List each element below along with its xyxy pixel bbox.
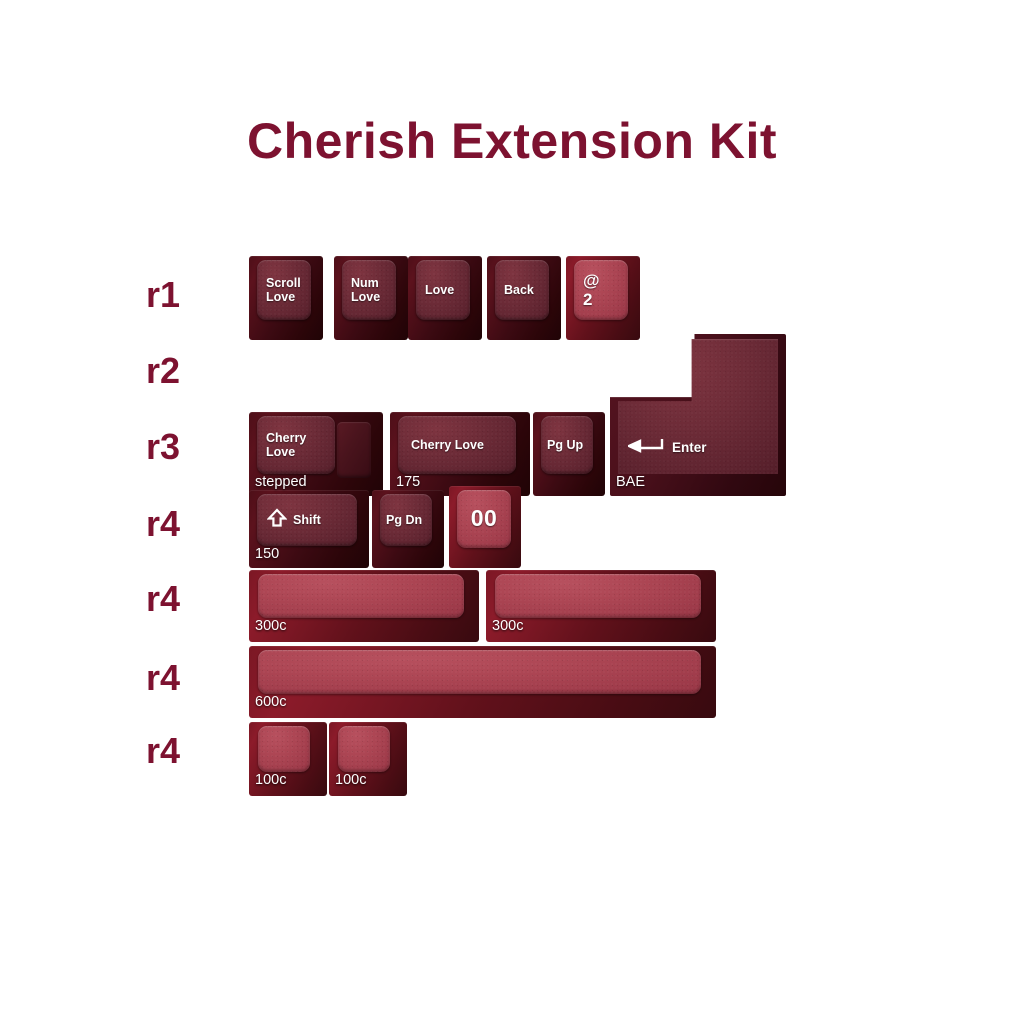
- keycap-legend: Scroll Love: [257, 276, 301, 304]
- keycap-legend-group: Enter: [628, 438, 707, 457]
- keycap-100c-left[interactable]: 100c: [249, 722, 327, 796]
- keycap-scroll-love[interactable]: Scroll Love: [249, 256, 323, 340]
- keycap-top-surface: Pg Dn: [380, 494, 432, 546]
- keycap-spacebar-600c[interactable]: 600c: [249, 646, 716, 718]
- keycap-top-surface: Back: [495, 260, 549, 320]
- row-label-r2: r2: [146, 353, 180, 389]
- keycap-legend: Back: [495, 283, 534, 297]
- keycap-num-love[interactable]: Num Love: [334, 256, 408, 340]
- keycap-top-surface: Pg Up: [541, 416, 593, 474]
- keycap-top-surface: [258, 650, 701, 694]
- keycap-shift-150[interactable]: Shift 150: [249, 490, 369, 568]
- keycap-legend: Cherry Love: [398, 438, 484, 452]
- keycap-legend: @ 2: [574, 271, 600, 309]
- keycap-top-surface: Cherry Love: [257, 416, 335, 474]
- keycap-top-surface: [338, 726, 390, 772]
- row-label-r3: r3: [146, 429, 180, 465]
- keycap-top-surface: [495, 574, 701, 618]
- row-label-r4-a: r4: [146, 506, 180, 542]
- keycap-legend: Enter: [672, 440, 707, 455]
- keycap-legend: Pg Dn: [380, 513, 422, 527]
- keycap-top-surface: Num Love: [342, 260, 396, 320]
- keycap-top-surface: [258, 574, 464, 618]
- keycap-double-zero[interactable]: 00: [449, 486, 521, 568]
- keycap-100c-right[interactable]: 100c: [329, 722, 407, 796]
- keycap-top-surface: Cherry Love: [398, 416, 516, 474]
- keycap-legend: 00: [457, 506, 511, 532]
- row-label-r1: r1: [146, 277, 180, 313]
- keycap-spacebar-300c-left[interactable]: 300c: [249, 570, 479, 642]
- row-label-r4-c: r4: [146, 660, 180, 696]
- keycap-top-surface: Shift: [257, 494, 357, 546]
- keycap-spacebar-300c-right[interactable]: 300c: [486, 570, 716, 642]
- keycap-cherry-love-175[interactable]: Cherry Love 175: [390, 412, 530, 496]
- keycap-top-surface: [258, 726, 310, 772]
- keycap-legend: Cherry Love: [257, 431, 306, 459]
- keycap-step-lower-surface: [337, 422, 371, 478]
- shift-up-arrow-icon: [267, 508, 287, 533]
- keycap-cherry-love-stepped[interactable]: Cherry Love stepped: [249, 412, 383, 496]
- keycap-pg-up[interactable]: Pg Up: [533, 412, 605, 496]
- keycap-top-surface: Scroll Love: [257, 260, 311, 320]
- keycap-at-2[interactable]: @ 2: [566, 256, 640, 340]
- keycap-top-surface: @ 2: [574, 260, 628, 320]
- keycap-pg-dn[interactable]: Pg Dn: [372, 490, 444, 568]
- keycap-top-surface: 00: [457, 490, 511, 548]
- keycap-back[interactable]: Back: [487, 256, 561, 340]
- keycap-love[interactable]: Love: [408, 256, 482, 340]
- keycap-legend: Shift: [293, 513, 321, 527]
- row-label-r4-b: r4: [146, 581, 180, 617]
- keycap-kit-canvas: Cherish Extension Kit r1 r2 r3 r4 r4 r4 …: [0, 0, 1024, 1024]
- page-title: Cherish Extension Kit: [0, 112, 1024, 170]
- keycap-legend: Love: [416, 283, 454, 297]
- row-label-r4-d: r4: [146, 733, 180, 769]
- keycap-enter-bae[interactable]: Enter BAE: [610, 334, 786, 496]
- enter-arrow-icon: [628, 438, 668, 457]
- keycap-legend: Num Love: [342, 276, 380, 304]
- keycap-legend: Pg Up: [541, 438, 583, 452]
- keycap-top-surface: Love: [416, 260, 470, 320]
